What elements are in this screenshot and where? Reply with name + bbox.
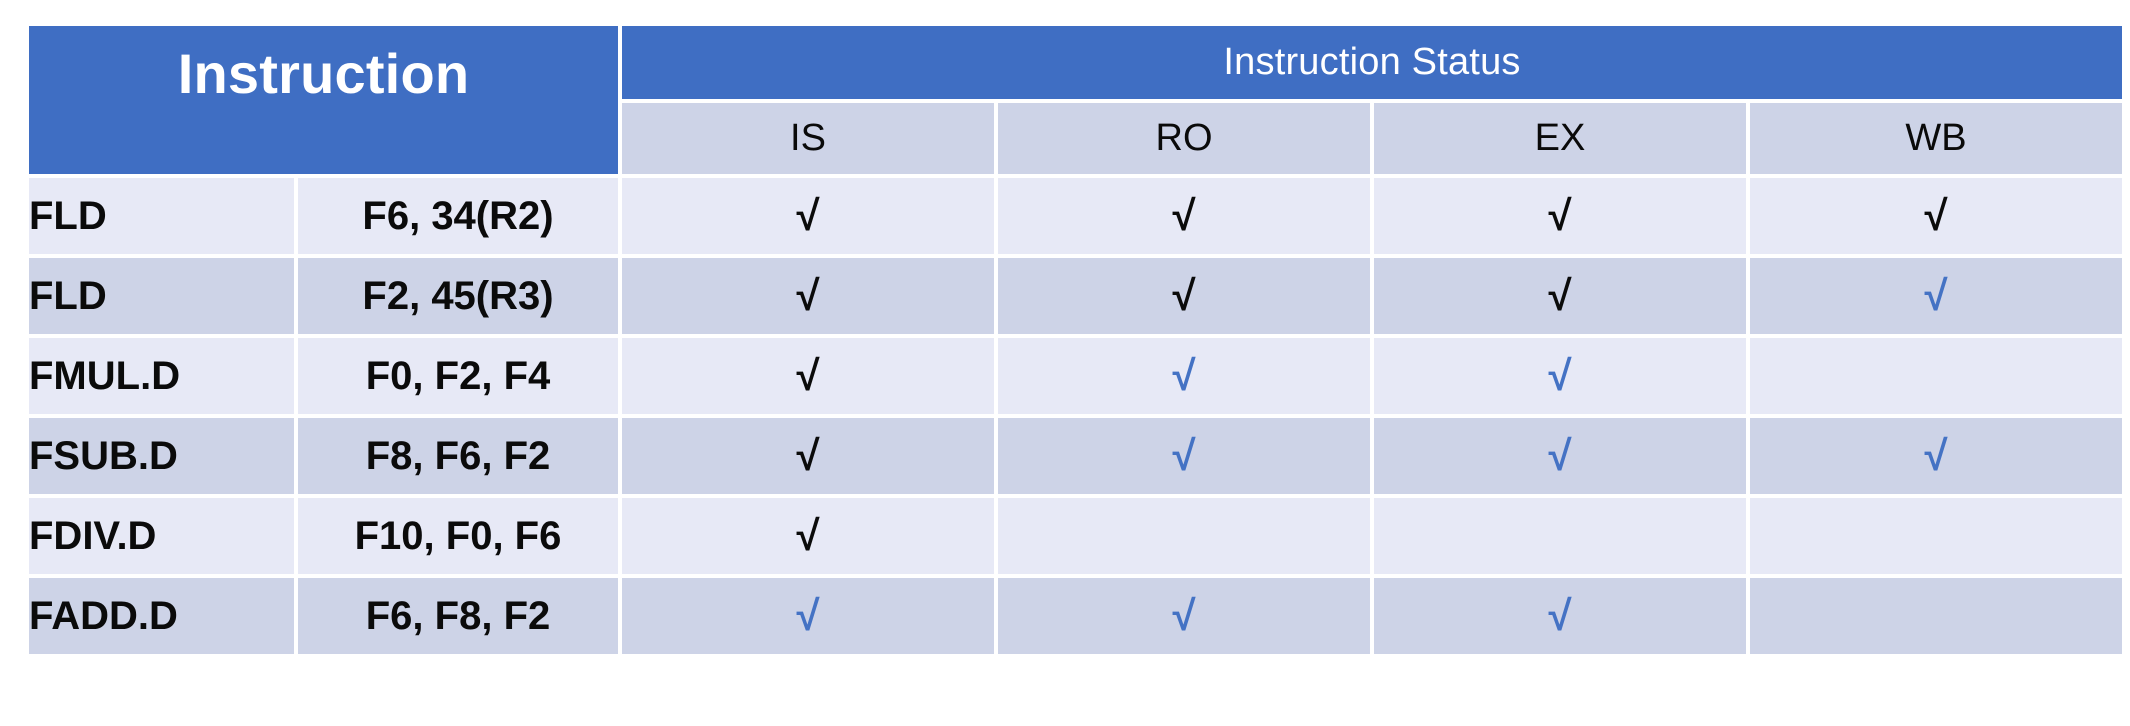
instruction-status-table: Instruction Instruction Status IS RO EX … (25, 22, 2126, 658)
status-mark-wb (1750, 498, 2122, 574)
header-row-primary: Instruction Instruction Status (29, 26, 2122, 99)
status-mark-ex: √ (1374, 338, 1746, 414)
table-row: FADD.DF6, F8, F2√√√ (29, 578, 2122, 654)
instruction-operands: F8, F6, F2 (298, 418, 618, 494)
status-mark-is: √ (622, 178, 994, 254)
table-row: FLDF6, 34(R2)√√√√ (29, 178, 2122, 254)
status-mark-wb: √ (1750, 178, 2122, 254)
header-instruction-status: Instruction Status (622, 26, 2122, 99)
status-mark-is: √ (622, 418, 994, 494)
status-mark-wb: √ (1750, 258, 2122, 334)
table-body: FLDF6, 34(R2)√√√√FLDF2, 45(R3)√√√√FMUL.D… (29, 178, 2122, 654)
table-row: FMUL.DF0, F2, F4√√√ (29, 338, 2122, 414)
status-mark-wb (1750, 338, 2122, 414)
instruction-operands: F6, 34(R2) (298, 178, 618, 254)
status-mark-ro (998, 498, 1370, 574)
instruction-operands: F10, F0, F6 (298, 498, 618, 574)
instruction-mnemonic: FDIV.D (29, 498, 294, 574)
status-mark-is: √ (622, 578, 994, 654)
status-mark-is: √ (622, 338, 994, 414)
instruction-operands: F2, 45(R3) (298, 258, 618, 334)
instruction-operands: F0, F2, F4 (298, 338, 618, 414)
status-mark-wb (1750, 578, 2122, 654)
status-mark-ex: √ (1374, 258, 1746, 334)
table-row: FLDF2, 45(R3)√√√√ (29, 258, 2122, 334)
instruction-mnemonic: FADD.D (29, 578, 294, 654)
status-mark-ex: √ (1374, 178, 1746, 254)
instruction-operands: F6, F8, F2 (298, 578, 618, 654)
instruction-mnemonic: FLD (29, 258, 294, 334)
header-stage-wb: WB (1750, 103, 2122, 174)
status-mark-ro: √ (998, 418, 1370, 494)
instruction-mnemonic: FMUL.D (29, 338, 294, 414)
status-mark-ro: √ (998, 178, 1370, 254)
status-mark-ro: √ (998, 338, 1370, 414)
status-mark-ex: √ (1374, 418, 1746, 494)
status-mark-ro: √ (998, 258, 1370, 334)
header-instruction-label: Instruction (29, 45, 618, 104)
header-stage-ex: EX (1374, 103, 1746, 174)
status-mark-ex: √ (1374, 578, 1746, 654)
header-stage-is: IS (622, 103, 994, 174)
status-mark-is: √ (622, 498, 994, 574)
table-row: FDIV.DF10, F0, F6√ (29, 498, 2122, 574)
header-stage-ro: RO (998, 103, 1370, 174)
instruction-status-table-container: Instruction Instruction Status IS RO EX … (25, 22, 2102, 658)
status-mark-wb: √ (1750, 418, 2122, 494)
status-mark-is: √ (622, 258, 994, 334)
status-mark-ro: √ (998, 578, 1370, 654)
instruction-mnemonic: FSUB.D (29, 418, 294, 494)
table-row: FSUB.DF8, F6, F2√√√√ (29, 418, 2122, 494)
header-instruction: Instruction (29, 26, 618, 174)
status-mark-ex (1374, 498, 1746, 574)
instruction-mnemonic: FLD (29, 178, 294, 254)
table-head: Instruction Instruction Status IS RO EX … (29, 26, 2122, 174)
